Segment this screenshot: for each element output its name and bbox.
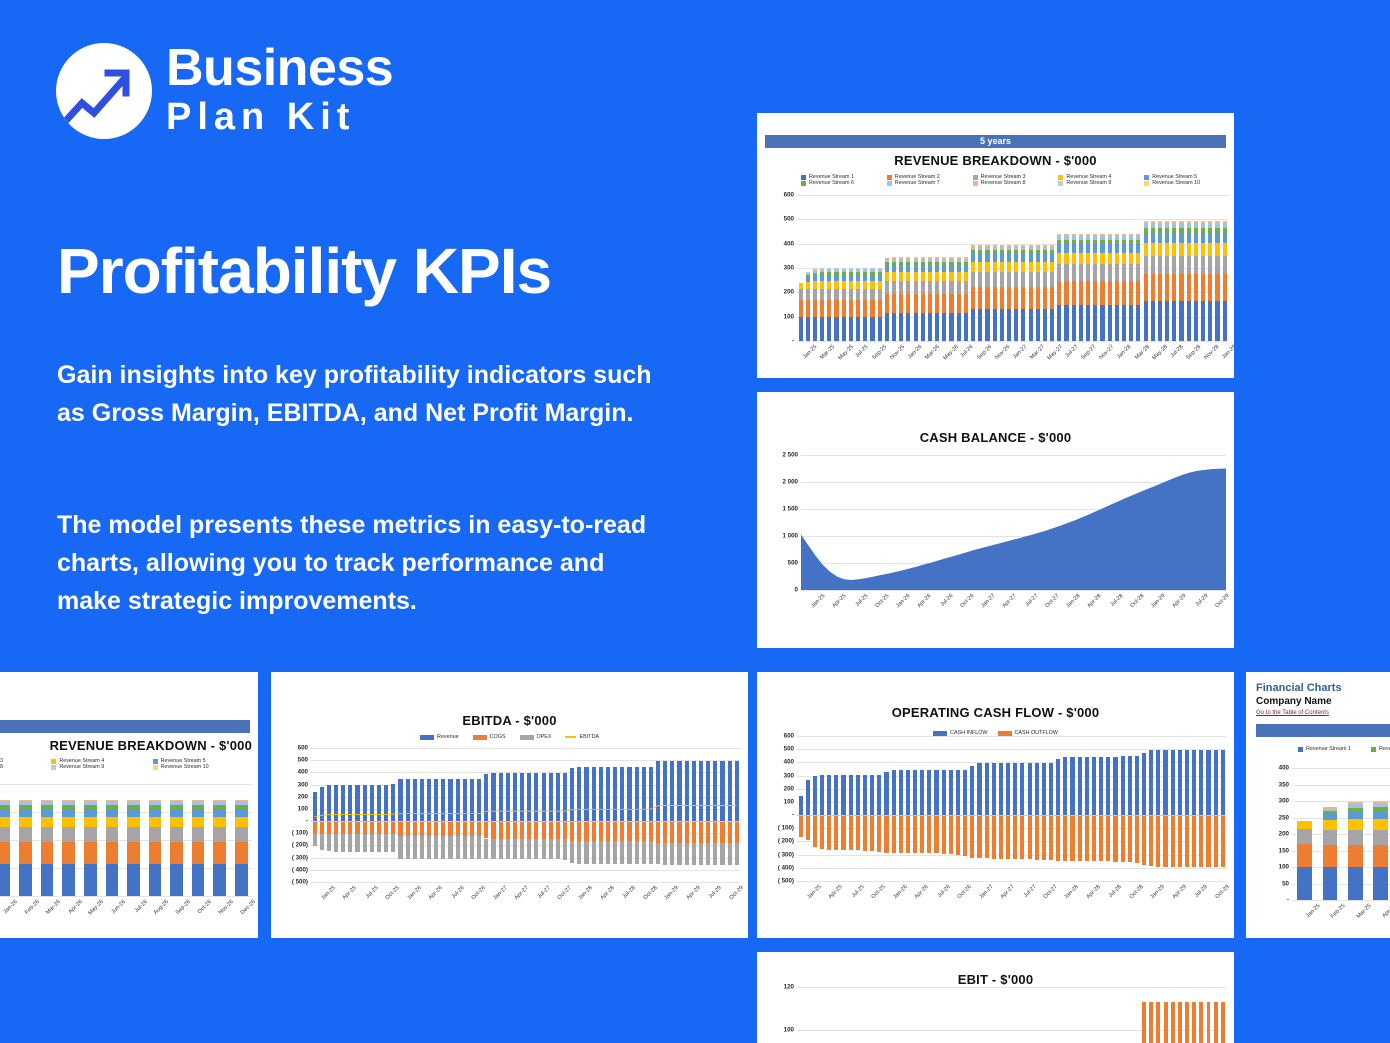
bar-slot[interactable]	[1191, 987, 1198, 1043]
bar-slot[interactable]	[1171, 195, 1178, 341]
bar-slot[interactable]	[797, 736, 804, 881]
bar-slot[interactable]	[933, 987, 940, 1043]
bar-slot[interactable]	[898, 195, 905, 341]
bar-slot[interactable]	[962, 736, 969, 881]
bar-slot[interactable]	[1113, 195, 1120, 341]
bar-slot[interactable]	[1149, 195, 1156, 341]
stacked-bar[interactable]	[62, 784, 75, 896]
bar-slot[interactable]	[1090, 736, 1097, 881]
stacked-bar[interactable]	[827, 195, 831, 341]
ebit-panel[interactable]: EBIT - $'000 12010080	[757, 952, 1234, 1043]
bar-slot[interactable]	[1133, 736, 1140, 881]
bar-slot[interactable]	[1062, 736, 1069, 881]
bar-slot[interactable]	[890, 987, 897, 1043]
legend-item[interactable]: Revenue Stream 10	[153, 764, 254, 770]
bar-slot[interactable]	[919, 736, 926, 881]
stacked-bar[interactable]	[806, 195, 810, 341]
stacked-bar[interactable]	[1223, 195, 1227, 341]
bar-slot[interactable]	[983, 987, 990, 1043]
bar-slot[interactable]	[1076, 987, 1083, 1043]
stacked-bar[interactable]	[942, 195, 946, 341]
stacked-bar[interactable]	[949, 195, 953, 341]
bar-slot[interactable]	[1063, 195, 1070, 341]
bar-slot[interactable]	[1027, 195, 1034, 341]
bar-slot[interactable]	[1214, 195, 1221, 341]
stacked-bar[interactable]	[799, 195, 803, 341]
bar-slot[interactable]	[804, 987, 811, 1043]
stacked-bar[interactable]	[957, 195, 961, 341]
stacked-bar[interactable]	[1093, 195, 1097, 341]
bar-slot[interactable]	[1126, 736, 1133, 881]
bar-slot[interactable]	[1343, 768, 1368, 900]
bar-slot[interactable]	[833, 736, 840, 881]
bar-slot[interactable]	[990, 987, 997, 1043]
bar-slot[interactable]	[1106, 195, 1113, 341]
bar-slot[interactable]	[1212, 987, 1219, 1043]
bar-slot[interactable]	[1040, 736, 1047, 881]
bar-slot[interactable]	[166, 784, 188, 896]
bar-slot[interactable]	[36, 784, 58, 896]
bar-slot[interactable]	[1219, 987, 1226, 1043]
stacked-bar[interactable]	[863, 195, 867, 341]
stacked-bar[interactable]	[1079, 195, 1083, 341]
bar-slot[interactable]	[904, 736, 911, 881]
bar-slot[interactable]	[804, 195, 811, 341]
bar-slot[interactable]	[876, 987, 883, 1043]
bar-slot[interactable]	[1169, 736, 1176, 881]
bar-slot[interactable]	[854, 736, 861, 881]
stacked-bar[interactable]	[1144, 195, 1148, 341]
bar-slot[interactable]	[962, 987, 969, 1043]
bar-slot[interactable]	[1317, 768, 1342, 900]
bar-slot[interactable]	[1013, 195, 1020, 341]
bar-slot[interactable]	[1090, 987, 1097, 1043]
stacked-bar[interactable]	[1021, 195, 1025, 341]
bar-slot[interactable]	[954, 736, 961, 881]
legend-item[interactable]: Revenue Stream 9	[51, 764, 152, 770]
bar-slot[interactable]	[819, 195, 826, 341]
bar-slot[interactable]	[1055, 736, 1062, 881]
bar-slot[interactable]	[1112, 736, 1119, 881]
bar-slot[interactable]	[1012, 736, 1019, 881]
legend-item[interactable]: Revenue Stream 7	[887, 180, 973, 186]
bar-slot[interactable]	[977, 195, 984, 341]
bar-slot[interactable]	[840, 736, 847, 881]
stacked-bar[interactable]	[41, 784, 54, 896]
stacked-bar[interactable]	[1172, 195, 1176, 341]
legend-item[interactable]: OPEX	[520, 734, 552, 740]
bar-slot[interactable]	[847, 987, 854, 1043]
bar-slot[interactable]	[1183, 987, 1190, 1043]
bar-slot[interactable]	[1085, 195, 1092, 341]
bar-slot[interactable]	[991, 195, 998, 341]
legend-item[interactable]: Revenue Stream 8	[0, 764, 51, 770]
bar-slot[interactable]	[1040, 987, 1047, 1043]
bar-slot[interactable]	[976, 987, 983, 1043]
bar-slot[interactable]	[1019, 987, 1026, 1043]
bar-slot[interactable]	[876, 736, 883, 881]
bar-slot[interactable]	[1098, 736, 1105, 881]
stacked-bar[interactable]	[985, 195, 989, 341]
stacked-bar[interactable]	[813, 195, 817, 341]
bar-slot[interactable]	[926, 195, 933, 341]
bar-slot[interactable]	[1049, 195, 1056, 341]
stacked-bar[interactable]	[1323, 768, 1338, 900]
bar-slot[interactable]	[1141, 987, 1148, 1043]
bar-slot[interactable]	[1077, 195, 1084, 341]
bar-slot[interactable]	[826, 736, 833, 881]
bar-slot[interactable]	[123, 784, 145, 896]
bar-slot[interactable]	[79, 784, 101, 896]
stacked-bar[interactable]	[820, 195, 824, 341]
bar-slot[interactable]	[811, 987, 818, 1043]
bar-slot[interactable]	[912, 736, 919, 881]
bar-slot[interactable]	[1162, 736, 1169, 881]
bar-slot[interactable]	[797, 195, 804, 341]
bar-slot[interactable]	[919, 195, 926, 341]
bar-slot[interactable]	[869, 736, 876, 881]
bar-slot[interactable]	[983, 736, 990, 881]
stacked-bar[interactable]	[878, 195, 882, 341]
stacked-bar[interactable]	[1057, 195, 1061, 341]
stacked-bar[interactable]	[1215, 195, 1219, 341]
bar-slot[interactable]	[1112, 987, 1119, 1043]
bar-slot[interactable]	[947, 987, 954, 1043]
legend-item[interactable]: Revenue Stream 1	[1298, 746, 1371, 752]
x-axis-tick-label: Jan-25	[317, 885, 336, 904]
bar-slot[interactable]	[1005, 987, 1012, 1043]
bar-slot[interactable]	[955, 195, 962, 341]
stacked-bar[interactable]	[1086, 195, 1090, 341]
bar-slot[interactable]	[933, 736, 940, 881]
bar-slot[interactable]	[861, 987, 868, 1043]
bar-slot[interactable]	[804, 736, 811, 881]
stacked-bar[interactable]	[1187, 195, 1191, 341]
bar-slot[interactable]	[984, 195, 991, 341]
bar-slot[interactable]	[997, 736, 1004, 881]
bar-slot[interactable]	[962, 195, 969, 341]
bar-slot[interactable]	[1368, 768, 1390, 900]
bar-slot[interactable]	[940, 987, 947, 1043]
stacked-bar[interactable]	[849, 195, 853, 341]
bar-slot[interactable]	[1135, 195, 1142, 341]
bar-slot[interactable]	[833, 195, 840, 341]
stacked-bar[interactable]	[1208, 195, 1212, 341]
stacked-bar[interactable]	[885, 195, 889, 341]
bar-slot[interactable]	[947, 736, 954, 881]
stacked-bar[interactable]	[127, 784, 140, 896]
bar-slot[interactable]	[1026, 987, 1033, 1043]
bar-slot[interactable]	[1119, 987, 1126, 1043]
bar-slot[interactable]	[976, 736, 983, 881]
bar-slot[interactable]	[862, 195, 869, 341]
stacked-bar[interactable]	[834, 195, 838, 341]
bar-slot[interactable]	[897, 736, 904, 881]
bar-slot[interactable]	[231, 784, 253, 896]
bar-slot[interactable]	[1070, 195, 1077, 341]
bar-slot[interactable]	[1183, 736, 1190, 881]
bar-slot[interactable]	[1034, 195, 1041, 341]
bar-slot[interactable]	[209, 784, 231, 896]
bar-slot[interactable]	[1142, 195, 1149, 341]
bar-slot[interactable]	[1169, 987, 1176, 1043]
legend-item[interactable]: Revenue Stream 10	[1144, 180, 1230, 186]
stacked-bar[interactable]	[1122, 195, 1126, 341]
bar-slot[interactable]	[855, 195, 862, 341]
bar-slot[interactable]	[912, 195, 919, 341]
bar-slot[interactable]	[1033, 736, 1040, 881]
bar-slot[interactable]	[905, 195, 912, 341]
bar-slot[interactable]	[1185, 195, 1192, 341]
legend-item[interactable]: Revenue Stream 8	[973, 180, 1059, 186]
bar-slot[interactable]	[1105, 736, 1112, 881]
legend-item[interactable]: Revenue Stream 6	[1371, 746, 1390, 752]
stacked-bar[interactable]	[899, 195, 903, 341]
bar-slot[interactable]	[847, 195, 854, 341]
bar-slot[interactable]	[940, 736, 947, 881]
bar-slot[interactable]	[101, 784, 123, 896]
bar-slot[interactable]	[854, 987, 861, 1043]
stacked-bar[interactable]	[921, 195, 925, 341]
stacked-bar[interactable]	[1029, 195, 1033, 341]
bar-slot[interactable]	[1292, 768, 1317, 900]
stacked-bar[interactable]	[84, 784, 97, 896]
bar-slot[interactable]	[1192, 195, 1199, 341]
bar-slot[interactable]	[1207, 195, 1214, 341]
stacked-bar[interactable]	[1100, 195, 1104, 341]
bar-slot[interactable]	[883, 987, 890, 1043]
bar-slot[interactable]	[833, 987, 840, 1043]
bar-slot[interactable]	[840, 987, 847, 1043]
bar-segment	[1099, 815, 1103, 861]
stacked-bar[interactable]	[1000, 195, 1004, 341]
bar-slot[interactable]	[1105, 987, 1112, 1043]
bar-slot[interactable]	[1148, 736, 1155, 881]
bar-slot[interactable]	[919, 987, 926, 1043]
stacked-bar[interactable]	[993, 195, 997, 341]
bar-segment	[41, 817, 54, 827]
bar-slot[interactable]	[934, 195, 941, 341]
bar-slot[interactable]	[883, 736, 890, 881]
stacked-bar[interactable]	[149, 784, 162, 896]
cash-balance-panel[interactable]: CASH BALANCE - $'000 2 5002 0001 5001 00…	[757, 392, 1234, 648]
ebitda-panel[interactable]: EBITDA - $'000 RevenueCOGSOPEXEBITDA 600…	[271, 672, 748, 938]
bar-slot[interactable]	[840, 195, 847, 341]
bar-slot[interactable]	[1056, 195, 1063, 341]
bar-slot[interactable]	[948, 195, 955, 341]
bar-slot[interactable]	[1162, 987, 1169, 1043]
bar-slot[interactable]	[1033, 987, 1040, 1043]
legend-item[interactable]: Revenue Stream 9	[1058, 180, 1144, 186]
legend-item[interactable]: Revenue	[420, 734, 459, 740]
bar-slot[interactable]	[1126, 987, 1133, 1043]
stacked-bar[interactable]	[1297, 768, 1312, 900]
bar-segment	[1043, 272, 1047, 287]
x-axis-tick-label: Jan-28	[1062, 593, 1081, 612]
bar-slot[interactable]	[1221, 195, 1228, 341]
stacked-bar[interactable]	[1115, 195, 1119, 341]
bar-slot[interactable]	[1020, 195, 1027, 341]
stacked-bar[interactable]	[1201, 195, 1205, 341]
stacked-bar[interactable]	[235, 784, 248, 896]
bar-slot[interactable]	[1083, 736, 1090, 881]
bar-slot[interactable]	[997, 987, 1004, 1043]
x-axis-tick-label: Jan-25	[802, 344, 818, 360]
bar-slot[interactable]	[1176, 736, 1183, 881]
stacked-bar[interactable]	[964, 195, 968, 341]
bar-slot[interactable]	[187, 784, 209, 896]
revenue-breakdown-5y-panel[interactable]: 5 years REVENUE BREAKDOWN - $'000 Revenu…	[757, 113, 1234, 378]
bar-slot[interactable]	[969, 736, 976, 881]
bar-slot[interactable]	[1012, 987, 1019, 1043]
bar-slot[interactable]	[969, 987, 976, 1043]
stacked-bar[interactable]	[1108, 195, 1112, 341]
bar-slot[interactable]	[883, 195, 890, 341]
stacked-bar[interactable]	[935, 195, 939, 341]
bar-slot[interactable]	[1076, 736, 1083, 881]
stacked-bar[interactable]	[0, 784, 10, 896]
bar-slot[interactable]	[1176, 987, 1183, 1043]
bar-slot[interactable]	[1178, 195, 1185, 341]
bar-slot[interactable]	[1191, 736, 1198, 881]
stacked-bar[interactable]	[971, 195, 975, 341]
stacked-bar[interactable]	[1036, 195, 1040, 341]
stacked-bar[interactable]	[213, 784, 226, 896]
bar-slot[interactable]	[1062, 987, 1069, 1043]
bar-slot[interactable]	[811, 195, 818, 341]
legend-item[interactable]: EBITDA	[565, 734, 598, 740]
stacked-bar[interactable]	[1151, 195, 1155, 341]
bar-slot[interactable]	[826, 195, 833, 341]
bar-slot[interactable]	[797, 987, 804, 1043]
bar-slot[interactable]	[904, 987, 911, 1043]
bar-slot[interactable]	[1128, 195, 1135, 341]
stacked-bar[interactable]	[1373, 768, 1388, 900]
bar-slot[interactable]	[954, 987, 961, 1043]
stacked-bar[interactable]	[19, 784, 32, 896]
bar-slot[interactable]	[1098, 987, 1105, 1043]
legend-item[interactable]: COGS	[473, 734, 506, 740]
bar-slot[interactable]	[58, 784, 80, 896]
stacked-bar[interactable]	[1348, 768, 1363, 900]
operating-cash-flow-panel[interactable]: OPERATING CASH FLOW - $'000 CASH INFLOWC…	[757, 672, 1234, 938]
bar-slot[interactable]	[1047, 736, 1054, 881]
stacked-bar[interactable]	[892, 195, 896, 341]
bar-slot[interactable]	[1120, 195, 1127, 341]
bar-slot[interactable]	[1141, 736, 1148, 881]
bar-slot[interactable]	[970, 195, 977, 341]
bar-slot[interactable]	[1047, 987, 1054, 1043]
bar-slot[interactable]	[990, 736, 997, 881]
stacked-bar[interactable]	[870, 195, 874, 341]
stacked-bar[interactable]	[1014, 195, 1018, 341]
bar-slot[interactable]	[1099, 195, 1106, 341]
bar-slot[interactable]	[1019, 736, 1026, 881]
stacked-bar[interactable]	[856, 195, 860, 341]
stacked-bar[interactable]	[1194, 195, 1198, 341]
bar-slot[interactable]	[847, 736, 854, 881]
bar-slot[interactable]	[1005, 195, 1012, 341]
stacked-bar[interactable]	[192, 784, 205, 896]
bar-slot[interactable]	[1092, 195, 1099, 341]
table-of-contents-link[interactable]: Go to the Table of Contents	[1256, 710, 1329, 716]
bar-slot[interactable]	[1155, 987, 1162, 1043]
bar-slot[interactable]	[941, 195, 948, 341]
bar-slot[interactable]	[144, 784, 166, 896]
stacked-bar[interactable]	[170, 784, 183, 896]
bar-slot[interactable]	[912, 987, 919, 1043]
bar-slot[interactable]	[1155, 736, 1162, 881]
stacked-bar[interactable]	[106, 784, 119, 896]
bar-slot[interactable]	[890, 195, 897, 341]
bar-slot[interactable]	[1156, 195, 1163, 341]
bar-slot[interactable]	[1069, 987, 1076, 1043]
stacked-bar[interactable]	[906, 195, 910, 341]
bar-slot[interactable]	[811, 736, 818, 881]
bar-slot[interactable]	[861, 736, 868, 881]
stacked-bar[interactable]	[1129, 195, 1133, 341]
bar-slot[interactable]	[1212, 736, 1219, 881]
bar-slot[interactable]	[1055, 987, 1062, 1043]
bar-slot[interactable]	[1205, 736, 1212, 881]
bar-slot[interactable]	[1198, 736, 1205, 881]
stacked-bar[interactable]	[1158, 195, 1162, 341]
financial-charts-panel[interactable]: Financial Charts Company Name Go to the …	[1246, 672, 1390, 938]
bar-slot[interactable]	[1219, 736, 1226, 881]
bar-slot[interactable]	[1133, 987, 1140, 1043]
stacked-bar[interactable]	[1136, 195, 1140, 341]
stacked-bar[interactable]	[1050, 195, 1054, 341]
bar-slot[interactable]	[1164, 195, 1171, 341]
bar-slot[interactable]	[890, 736, 897, 881]
legend-item[interactable]: Revenue Stream 6	[801, 180, 887, 186]
bar-slot[interactable]	[1119, 736, 1126, 881]
stacked-bar[interactable]	[1165, 195, 1169, 341]
bar-slot[interactable]	[1205, 987, 1212, 1043]
bar-slot[interactable]	[818, 987, 825, 1043]
bar-slot[interactable]	[869, 195, 876, 341]
stacked-bar[interactable]	[1007, 195, 1011, 341]
stacked-bar[interactable]	[1064, 195, 1068, 341]
bar-slot[interactable]	[869, 987, 876, 1043]
bar-slot[interactable]	[876, 195, 883, 341]
bar-slot[interactable]	[1083, 987, 1090, 1043]
bar-slot[interactable]	[926, 987, 933, 1043]
stacked-bar[interactable]	[914, 195, 918, 341]
bar-slot[interactable]	[1041, 195, 1048, 341]
bar-slot[interactable]	[926, 736, 933, 881]
stacked-bar[interactable]	[842, 195, 846, 341]
stacked-bar[interactable]	[1072, 195, 1076, 341]
bar-slot[interactable]	[1198, 987, 1205, 1043]
bar-slot[interactable]	[826, 987, 833, 1043]
stacked-bar[interactable]	[1043, 195, 1047, 341]
bar-slot[interactable]	[0, 784, 15, 896]
bar-slot[interactable]	[998, 195, 1005, 341]
bar-slot[interactable]	[1005, 736, 1012, 881]
bar-slot[interactable]	[1026, 736, 1033, 881]
bar-slot[interactable]	[15, 784, 37, 896]
stacked-bar[interactable]	[978, 195, 982, 341]
stacked-bar[interactable]	[928, 195, 932, 341]
stacked-bar[interactable]	[1179, 195, 1183, 341]
bar-slot[interactable]	[1069, 736, 1076, 881]
revenue-breakdown-24m-panel[interactable]: 24 months REVENUE BREAKDOWN - $'000 Reve…	[0, 672, 258, 938]
bar-slot[interactable]	[1148, 987, 1155, 1043]
bar-slot[interactable]	[897, 987, 904, 1043]
bar-slot[interactable]	[1200, 195, 1207, 341]
bar-slot[interactable]	[818, 736, 825, 881]
